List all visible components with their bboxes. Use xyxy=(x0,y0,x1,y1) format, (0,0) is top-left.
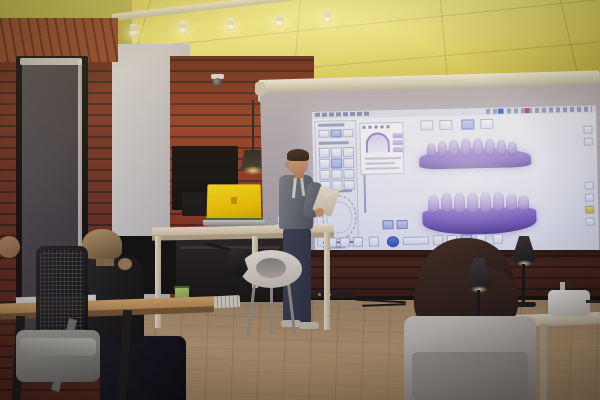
standing-desk-leg xyxy=(324,232,330,330)
projector-screen-end-cap xyxy=(255,82,265,95)
blind-headrail xyxy=(20,58,82,65)
track-spotlight xyxy=(323,10,332,23)
security-camera-icon xyxy=(213,78,222,87)
power-strip-led xyxy=(318,293,321,296)
desk-lamp-stem xyxy=(522,264,525,304)
attendee-hand xyxy=(118,258,132,270)
track-spotlight xyxy=(226,18,235,31)
presenter-hand xyxy=(315,208,324,217)
power-strip xyxy=(310,292,356,298)
track-spotlight xyxy=(178,21,187,34)
track-spotlight xyxy=(275,14,284,27)
bag-flap xyxy=(20,338,96,356)
laptop-logo xyxy=(231,197,237,204)
grey-chair-shadow xyxy=(412,352,528,400)
white-equipment xyxy=(548,290,590,316)
equipment-cable xyxy=(586,300,600,303)
track-spotlight xyxy=(129,24,138,37)
photo-scene xyxy=(0,0,600,400)
presenter-hair xyxy=(287,149,309,161)
presenter-ear xyxy=(285,161,290,168)
bar-stool-leg xyxy=(270,284,273,334)
pendant-lamp-cord xyxy=(252,100,254,152)
attendee-legs xyxy=(100,336,186,400)
bar-stool-handle-hole xyxy=(256,258,286,278)
pendant-lamp-glow xyxy=(243,166,263,175)
presenter-shoe xyxy=(299,322,319,329)
side-desk-leg xyxy=(540,324,547,400)
attendee-hair xyxy=(82,229,122,259)
